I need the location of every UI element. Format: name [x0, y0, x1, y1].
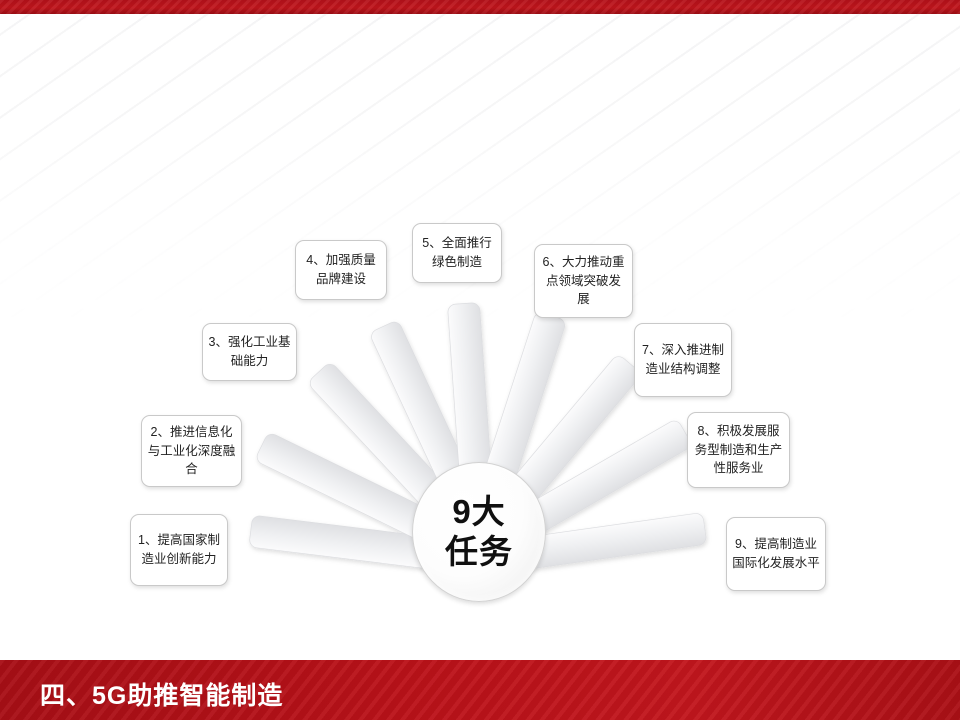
node-box-1[interactable]: 1、提高国家制造业创新能力	[130, 514, 228, 586]
node-box-3[interactable]: 3、强化工业基础能力	[202, 323, 297, 381]
footer-section-title: 四、5G助推智能制造	[40, 676, 283, 712]
node-label-7: 7、深入推进制造业结构调整	[640, 341, 726, 379]
node-label-2: 2、推进信息化与工业化深度融合	[147, 423, 236, 479]
node-label-4: 4、加强质量品牌建设	[301, 251, 381, 289]
node-box-4[interactable]: 4、加强质量品牌建设	[295, 240, 387, 300]
node-label-8: 8、积极发展服务型制造和生产性服务业	[693, 422, 784, 478]
node-box-6[interactable]: 6、大力推动重点领域突破发展	[534, 244, 633, 318]
radial-fan-diagram: 9大 任务 1、提高国家制造业创新能力 2、推进信息化与工业化深度融合 3、强化…	[0, 14, 960, 660]
center-hub-line-2: 任务	[445, 532, 513, 572]
node-label-9: 9、提高制造业国际化发展水平	[732, 535, 820, 573]
node-label-1: 1、提高国家制造业创新能力	[136, 531, 222, 569]
node-label-3: 3、强化工业基础能力	[208, 333, 291, 371]
node-box-5[interactable]: 5、全面推行绿色制造	[412, 223, 502, 283]
top-accent-bar	[0, 0, 960, 14]
center-hub: 9大 任务	[412, 462, 546, 602]
node-box-8[interactable]: 8、积极发展服务型制造和生产性服务业	[687, 412, 790, 488]
node-label-5: 5、全面推行绿色制造	[418, 234, 496, 272]
node-label-6: 6、大力推动重点领域突破发展	[540, 253, 627, 309]
node-box-9[interactable]: 9、提高制造业国际化发展水平	[726, 517, 826, 591]
center-hub-line-1: 9大	[452, 492, 505, 532]
node-box-7[interactable]: 7、深入推进制造业结构调整	[634, 323, 732, 397]
node-box-2[interactable]: 2、推进信息化与工业化深度融合	[141, 415, 242, 487]
slide-canvas: 9大 任务 1、提高国家制造业创新能力 2、推进信息化与工业化深度融合 3、强化…	[0, 0, 960, 720]
